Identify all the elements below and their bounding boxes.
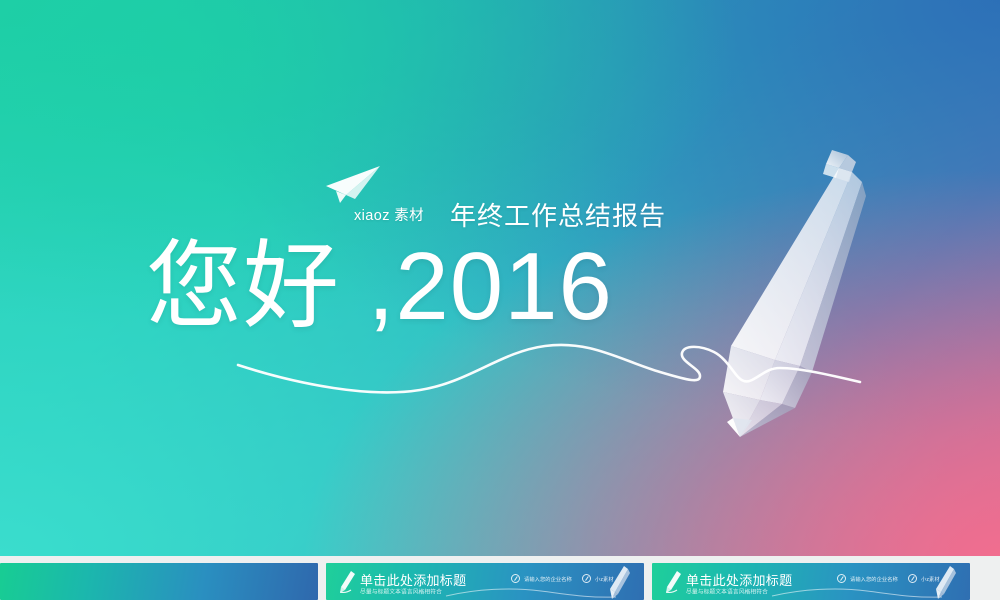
thumbnail-wave-line [652,586,970,600]
thumbnail-meta-company: 请输入您的企业名称 [511,574,574,583]
thumbnail-slide-2[interactable]: 单击此处添加标题 尽量与标题文本语言风格相符合 请输入您的企业名称 小z素材 [326,563,644,600]
slide-thumbnail-strip[interactable]: 单击此处添加标题 尽量与标题文本语言风格相符合 请输入您的企业名称 小z素材 [0,556,1000,600]
slide-subtitle: 年终工作总结报告 [450,196,666,233]
thumbnail-slide-3[interactable]: 单击此处添加标题 尽量与标题文本语言风格相符合 请输入您的企业名称 小z素材 [652,563,970,600]
thumbnail-wave-line [326,586,644,600]
brand-logo-text: xiaoz 素材 [354,204,424,225]
company-icon [837,574,846,583]
company-icon [511,574,520,583]
slide-canvas[interactable]: xiaoz 素材 年终工作总结报告 您好 ,2016 [0,0,1000,556]
thumbnail-meta-company-text: 请输入您的企业名称 [850,575,898,583]
slide-headline: 您好 ,2016 [146,237,613,338]
thumbnail-meta-company: 请输入您的企业名称 [837,574,900,583]
brand-icon [908,574,917,583]
paper-plane-icon [324,165,382,205]
thumbnail-slide-1[interactable] [0,563,318,600]
thumbnail-meta-company-text: 请输入您的企业名称 [524,575,572,583]
brand-logo: xiaoz 素材 [318,165,438,227]
brand-icon [582,574,591,583]
presentation-stage: xiaoz 素材 年终工作总结报告 您好 ,2016 单击此处添加标题 尽量与标… [0,0,1000,600]
